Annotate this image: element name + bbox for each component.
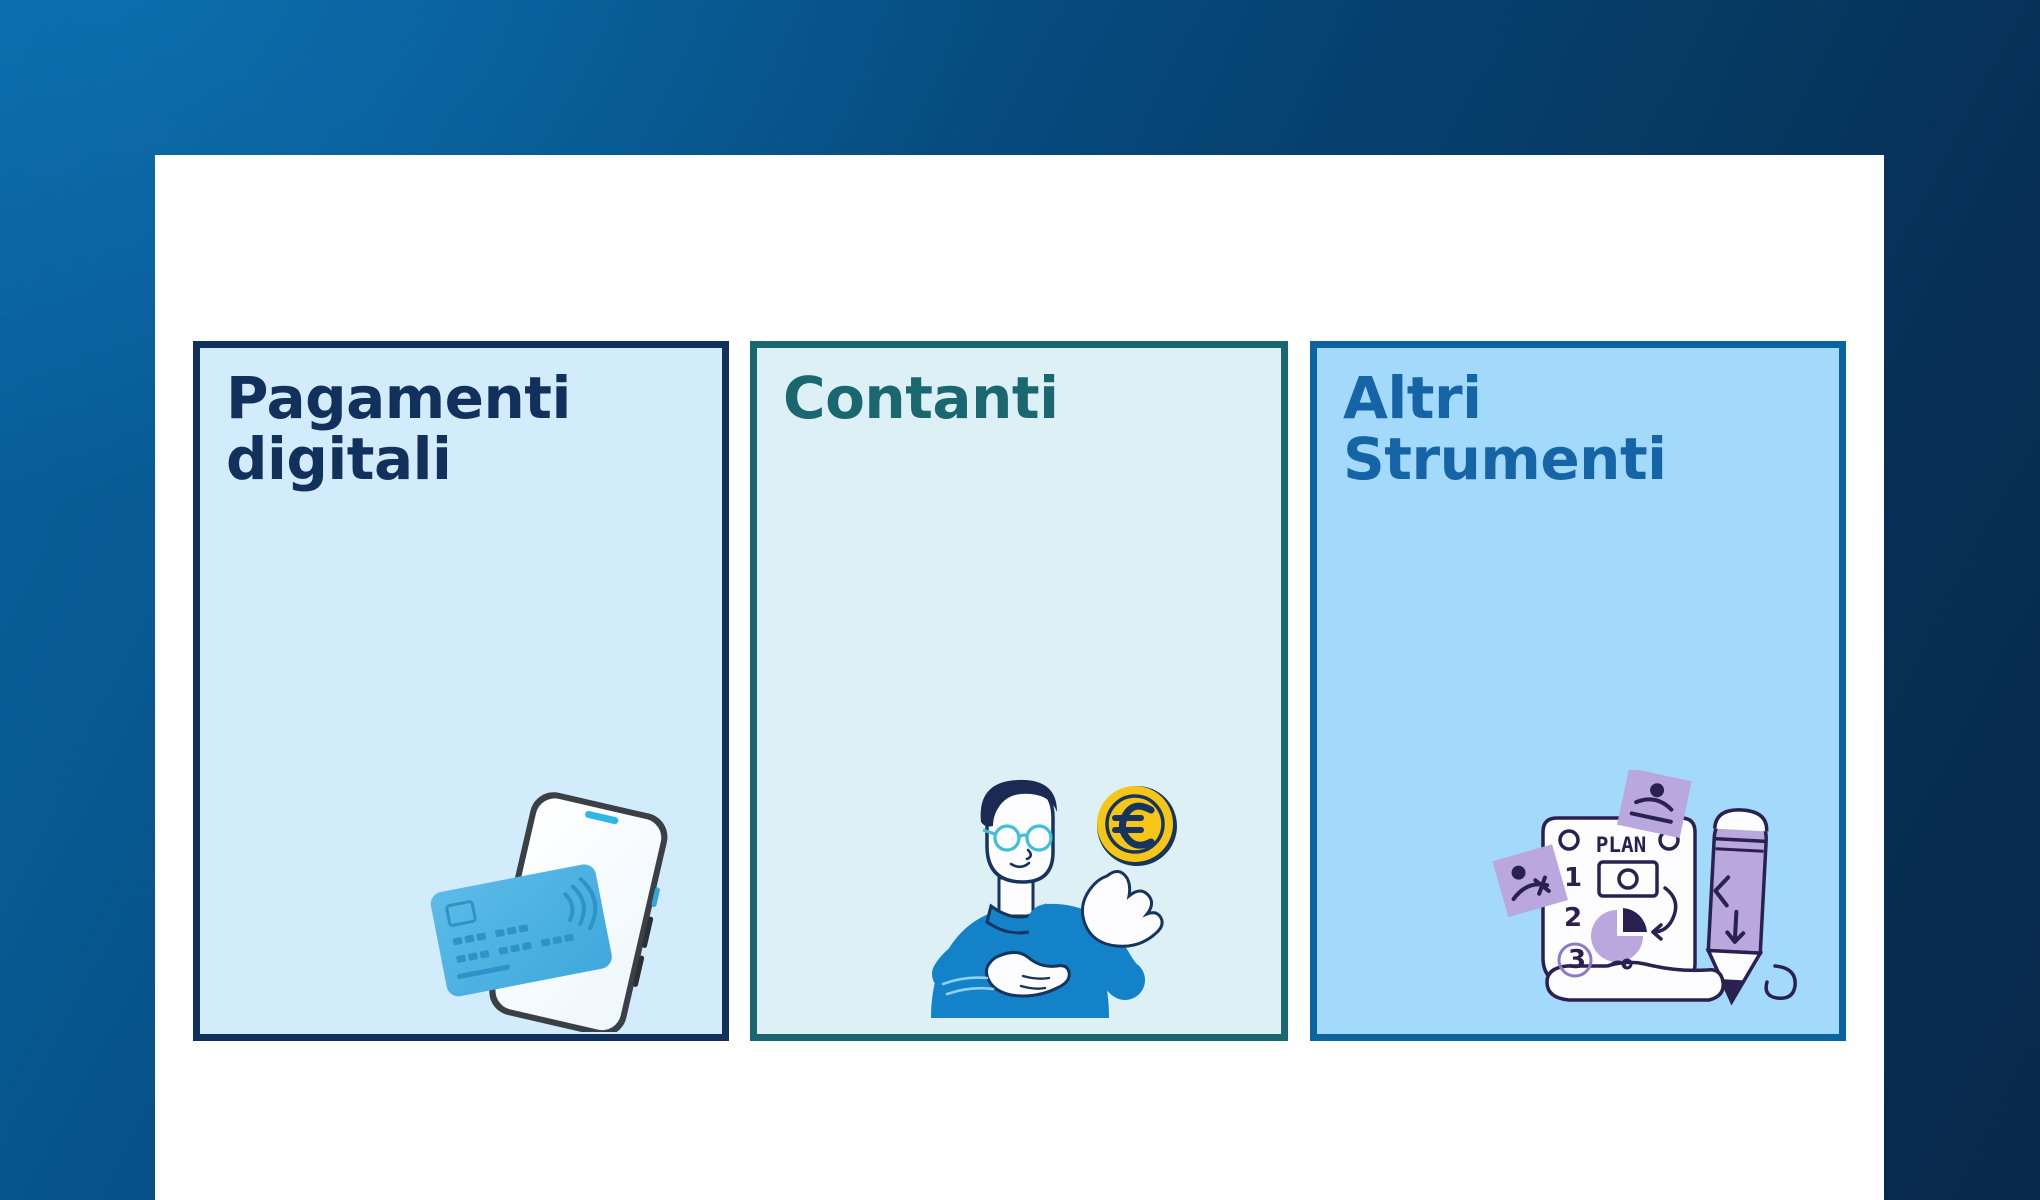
plan-item-3: 3 xyxy=(1568,945,1586,975)
card-group: Pagamenti digitali xyxy=(155,155,1884,1200)
card-pagamenti-digitali[interactable]: Pagamenti digitali xyxy=(193,341,729,1041)
card-contanti-body: Contanti xyxy=(757,348,1281,1034)
man-holding-euro-coin-icon xyxy=(895,768,1195,1018)
slide-panel: Pagamenti digitali xyxy=(155,155,1884,1200)
plan-item-2: 2 xyxy=(1564,903,1582,933)
card-contanti[interactable]: Contanti xyxy=(750,341,1288,1041)
card-pagamenti-title: Pagamenti digitali xyxy=(226,368,571,491)
plan-label: PLAN xyxy=(1596,833,1647,857)
card-altri-strumenti[interactable]: Altri Strumenti xyxy=(1310,341,1846,1041)
plan-item-1: 1 xyxy=(1564,863,1582,893)
phone-contactless-card-icon xyxy=(418,782,718,1032)
card-contanti-title: Contanti xyxy=(783,368,1058,429)
card-pagamenti-body: Pagamenti digitali xyxy=(200,348,722,1034)
plan-scroll-pencil-icon: PLAN 1 2 3 xyxy=(1489,770,1809,1020)
card-altri-body: Altri Strumenti xyxy=(1317,348,1839,1034)
card-altri-title: Altri Strumenti xyxy=(1343,368,1667,491)
slide-canvas: Pagamenti digitali xyxy=(0,0,2040,1200)
